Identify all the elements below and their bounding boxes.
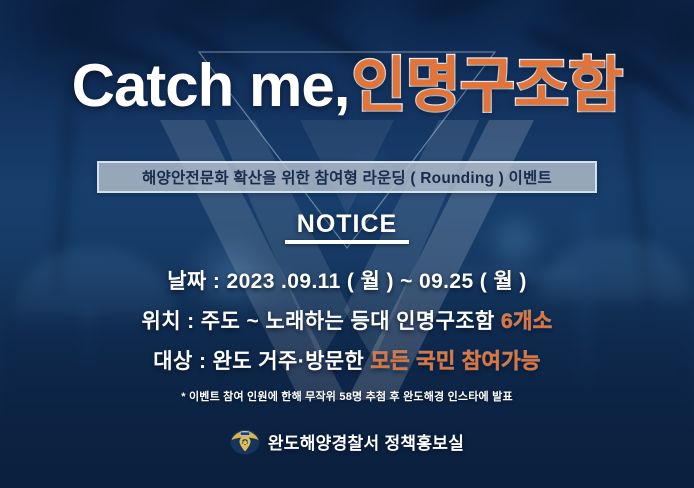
footnote-text: * 이벤트 참여 인원에 한해 무작위 58명 추첨 후 완도해경 인스타에 발…: [0, 388, 694, 404]
poster-title: Catch me,인명구조함: [0, 56, 694, 116]
target-value: 완도 거주·방문한: [213, 350, 371, 373]
title-english: Catch me,: [72, 52, 350, 119]
notice-heading: NOTICE: [0, 210, 694, 239]
place-value: 주도 ~ 노래하는 등대 인명구조함: [201, 310, 501, 333]
target-label: 대상 :: [153, 350, 212, 373]
poster-footer: 완도해양경찰서 정책홍보실: [0, 428, 694, 455]
place-label: 위치 :: [141, 310, 200, 333]
date-value: 2023 .09.11 ( 월 ) ~ 09.25 ( 월 ): [227, 270, 527, 293]
info-line-location: 위치 : 주도 ~ 노래하는 등대 인명구조함 6개소: [0, 305, 694, 335]
notice-underline: [285, 240, 409, 244]
korea-coast-guard-emblem-icon: [230, 428, 260, 455]
info-line-date: 날짜 : 2023 .09.11 ( 월 ) ~ 09.25 ( 월 ): [0, 265, 694, 295]
title-korean: 인명구조함: [351, 52, 622, 119]
subtitle-text: 해양안전문화 확산을 위한 참여형 라운딩 ( Rounding ) 이벤트: [142, 166, 552, 188]
event-poster: Catch me,인명구조함 해양안전문화 확산을 위한 참여형 라운딩 ( R…: [0, 0, 694, 488]
date-label: 날짜 :: [167, 270, 226, 293]
place-highlight: 6개소: [501, 310, 553, 333]
target-highlight: 모든 국민 참여가능: [370, 350, 540, 373]
organization-name: 완도해양경찰서 정책홍보실: [268, 429, 464, 454]
subtitle-banner: 해양안전문화 확산을 위한 참여형 라운딩 ( Rounding ) 이벤트: [97, 161, 597, 193]
info-line-target: 대상 : 완도 거주·방문한 모든 국민 참여가능: [0, 345, 694, 375]
